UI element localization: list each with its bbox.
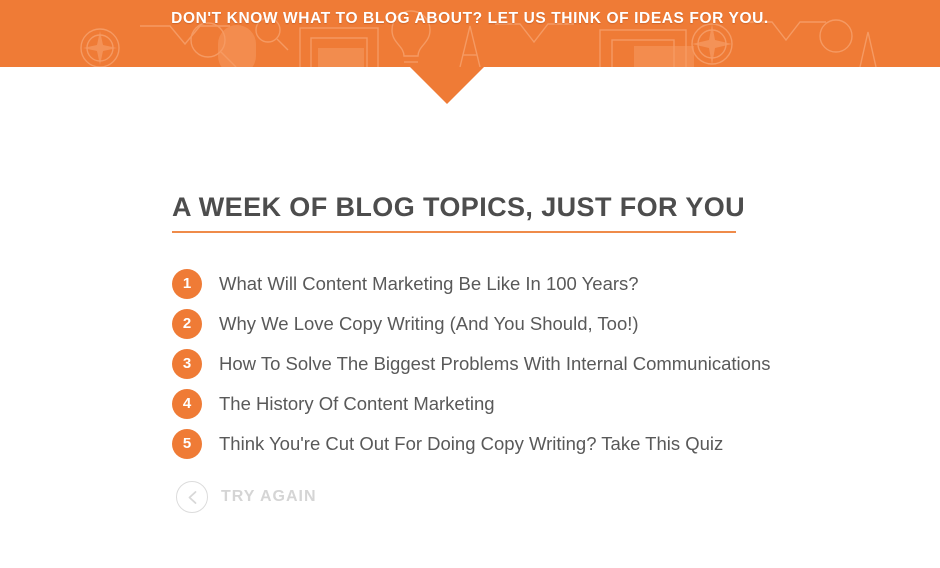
- chevron-left-circle-icon: [176, 481, 208, 513]
- page-title: A WEEK OF BLOG TOPICS, JUST FOR YOU: [172, 190, 872, 224]
- topic-number-badge: 2: [172, 309, 202, 339]
- topic-number-badge: 3: [172, 349, 202, 379]
- topic-number-badge: 5: [172, 429, 202, 459]
- blog-topic-list: 1 What Will Content Marketing Be Like In…: [172, 264, 812, 464]
- banner-headline: DON'T KNOW WHAT TO BLOG ABOUT? LET US TH…: [0, 10, 940, 28]
- topic-number-badge: 4: [172, 389, 202, 419]
- topic-title[interactable]: The History Of Content Marketing: [172, 384, 812, 424]
- topic-title[interactable]: Think You're Cut Out For Doing Copy Writ…: [172, 424, 812, 464]
- main-content: A WEEK OF BLOG TOPICS, JUST FOR YOU 1 Wh…: [172, 190, 872, 513]
- topic-number-badge: 1: [172, 269, 202, 299]
- topic-title[interactable]: What Will Content Marketing Be Like In 1…: [172, 264, 812, 304]
- title-underline-rule: [172, 231, 736, 233]
- list-item[interactable]: 4 The History Of Content Marketing: [172, 384, 812, 424]
- banner-arrow-pointer: [410, 67, 484, 104]
- list-item[interactable]: 1 What Will Content Marketing Be Like In…: [172, 264, 812, 304]
- list-item[interactable]: 2 Why We Love Copy Writing (And You Shou…: [172, 304, 812, 344]
- try-again-label: TRY AGAIN: [221, 488, 317, 506]
- topic-title[interactable]: How To Solve The Biggest Problems With I…: [172, 344, 812, 384]
- top-banner: DON'T KNOW WHAT TO BLOG ABOUT? LET US TH…: [0, 0, 940, 67]
- try-again-button[interactable]: TRY AGAIN: [176, 481, 346, 513]
- list-item[interactable]: 3 How To Solve The Biggest Problems With…: [172, 344, 812, 384]
- topic-title[interactable]: Why We Love Copy Writing (And You Should…: [172, 304, 812, 344]
- list-item[interactable]: 5 Think You're Cut Out For Doing Copy Wr…: [172, 424, 812, 464]
